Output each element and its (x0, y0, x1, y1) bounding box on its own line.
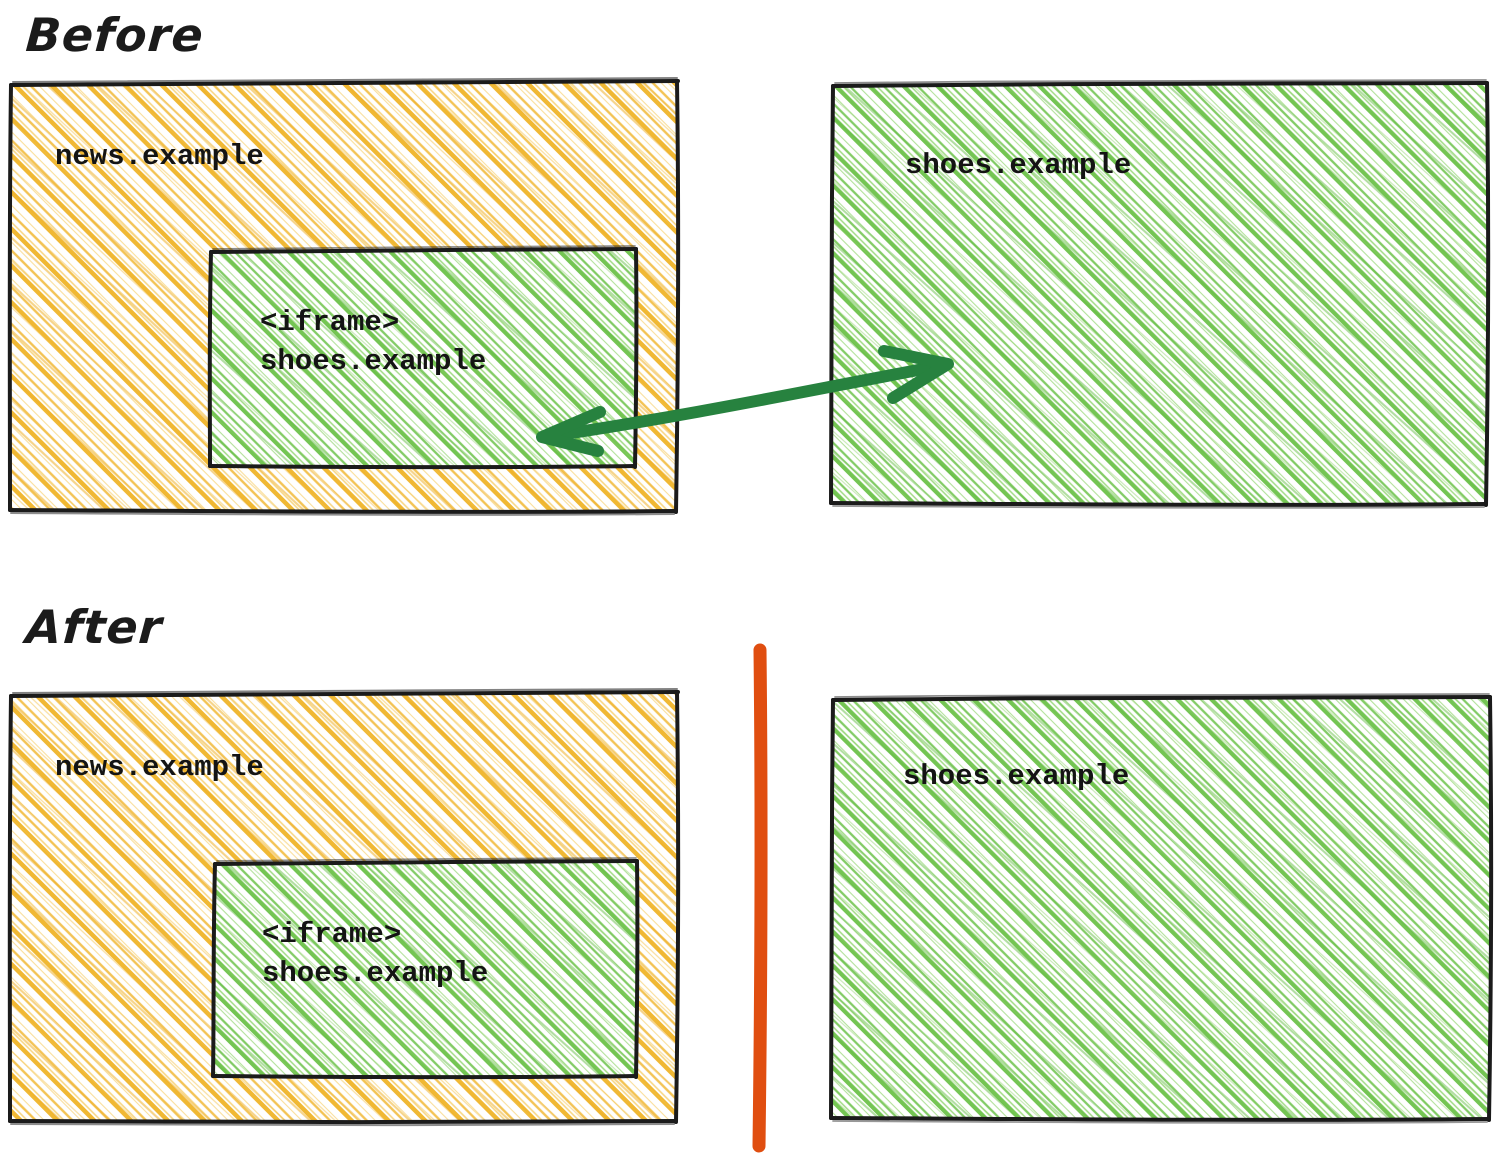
before-shoes-example-frame (831, 80, 1488, 508)
vertical-separator-bar (759, 650, 761, 1146)
diagram-canvas: Before After news.example <iframe>shoes.… (0, 0, 1506, 1154)
after-news-example-label: news.example (55, 748, 264, 787)
before-news-example-label: news.example (55, 137, 264, 176)
after-shoes-example-label: shoes.example (903, 757, 1129, 796)
before-iframe-tag: <iframe> (260, 306, 399, 339)
section-heading-after: After (24, 600, 164, 654)
after-iframe-origin: shoes.example (262, 957, 488, 990)
before-iframe-origin: shoes.example (260, 345, 486, 378)
after-iframe-tag: <iframe> (262, 918, 401, 951)
after-iframe-label: <iframe>shoes.example (262, 915, 488, 993)
before-shoes-example-label: shoes.example (905, 146, 1131, 185)
before-iframe-label: <iframe>shoes.example (260, 303, 486, 381)
section-heading-before: Before (24, 8, 206, 62)
